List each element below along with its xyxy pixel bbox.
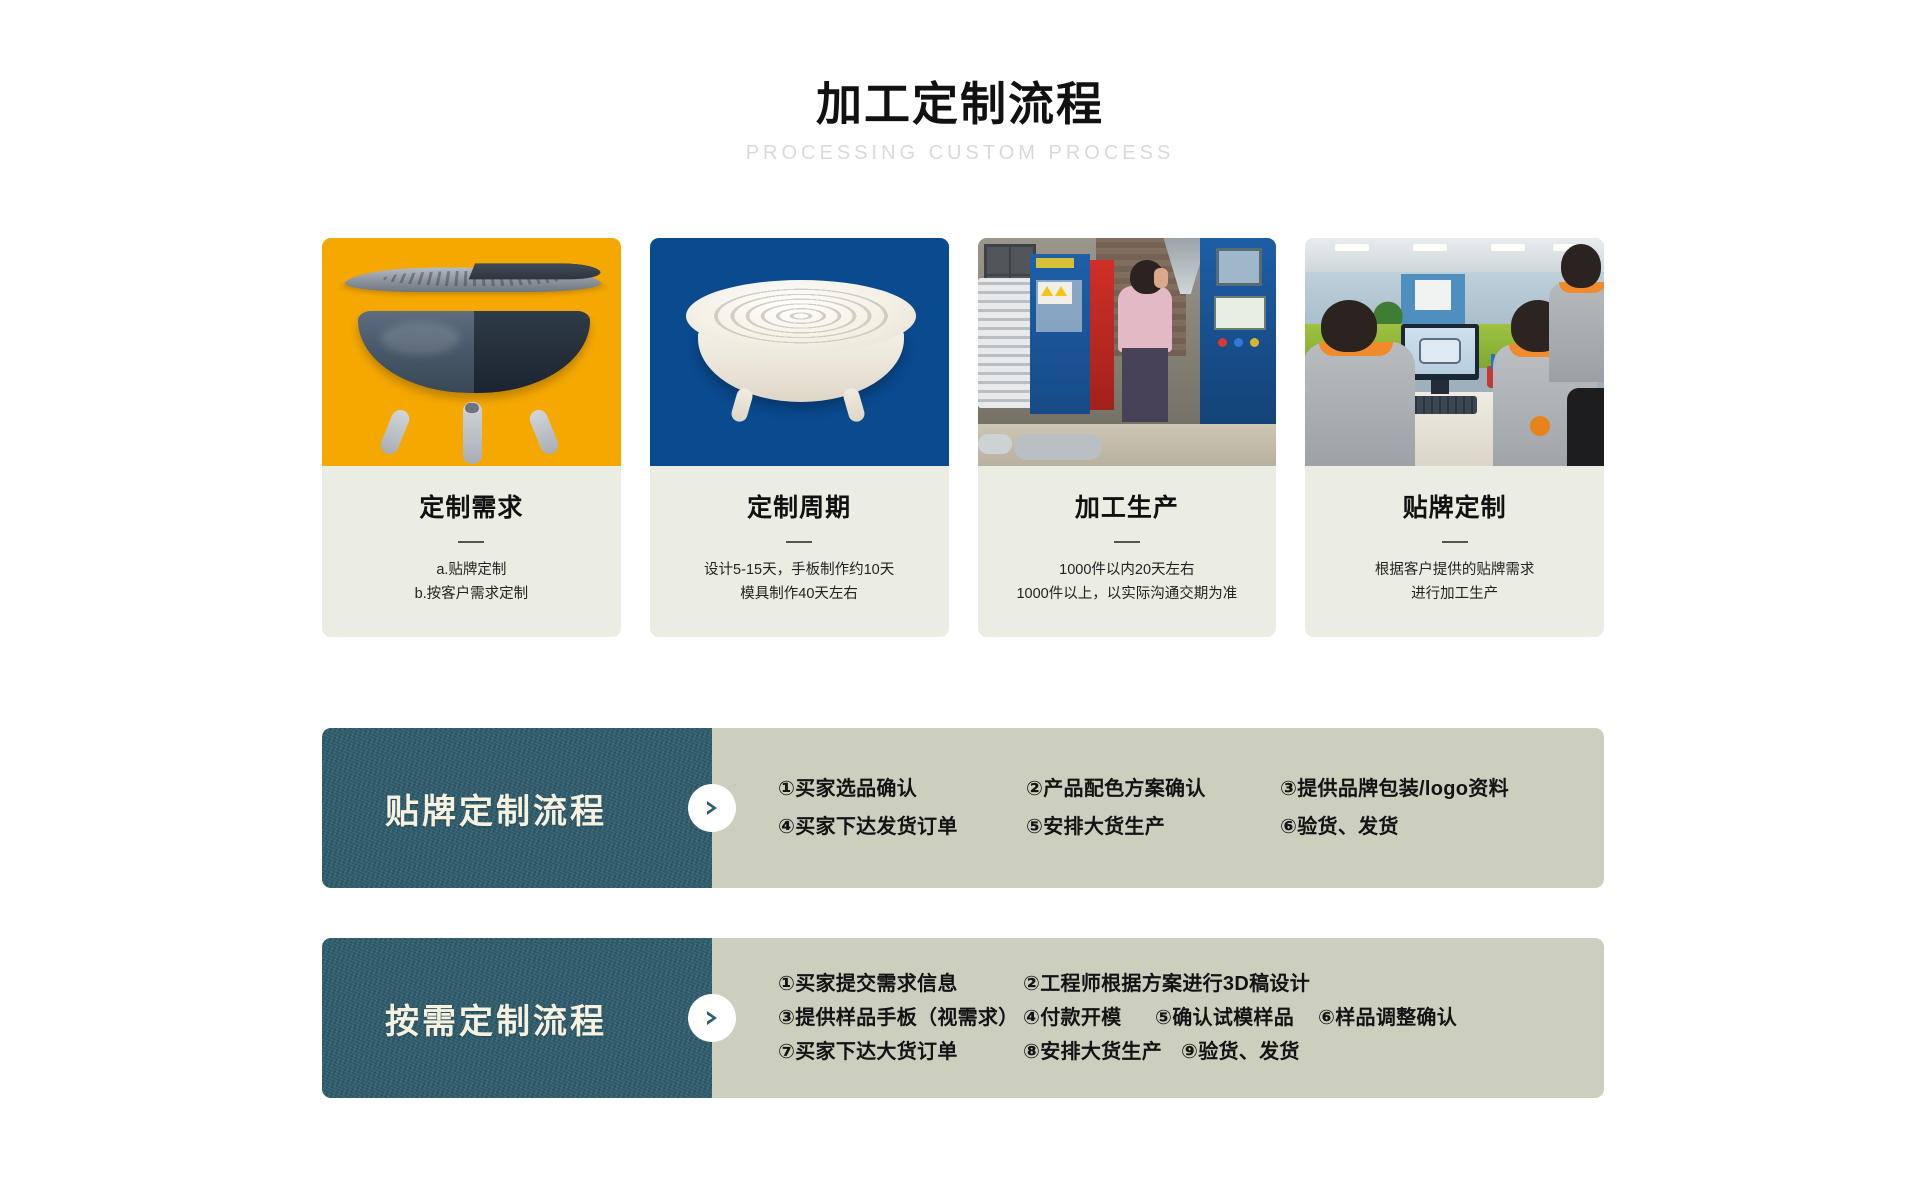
oem-step-4: ④买家下达发货订单 <box>778 817 1026 837</box>
process-card-4[interactable]: 贴牌定制 根据客户提供的贴牌需求 进行加工生产 <box>1305 238 1604 637</box>
card-3-desc-line-2: 1000件以上，以实际沟通交期为准 <box>988 583 1267 607</box>
oem-step-5: ⑤安排大货生产 <box>1026 817 1280 837</box>
oem-step-row-1: ①买家选品确认 ②产品配色方案确认 ③提供品牌包装/logo资料 <box>778 779 1604 799</box>
factory-blue-machine <box>1030 254 1090 414</box>
odm-step-2: ②工程师根据方案进行3D稿设计 <box>1023 974 1310 994</box>
factory-red-column <box>1090 260 1114 410</box>
page-subtitle: PROCESSING CUSTOM PROCESS <box>0 142 1920 165</box>
card-2-title: 定制周期 <box>660 488 939 524</box>
odm-process-banner: 按需定制流程 ①买家提交需求信息 ②工程师根据方案进行3D稿设计 ③提供样品手板… <box>322 938 1604 1098</box>
product-leg-left <box>378 407 412 456</box>
card-1-desc-line-1: a.贴牌定制 <box>332 559 611 583</box>
page-title: 加工定制流程 <box>0 78 1920 131</box>
factory-worker-face <box>1154 268 1168 288</box>
office-monitor-stand <box>1431 380 1449 394</box>
odm-step-1: ①买家提交需求信息 <box>778 974 1023 994</box>
card-4-image-office <box>1305 238 1604 466</box>
odm-step-row-3: ⑦买家下达大货订单 ⑧安排大货生产 ⑨验货、发货 <box>778 1042 1604 1062</box>
office-ceiling-light-2 <box>1413 244 1447 251</box>
odm-step-4: ④付款开模 <box>1023 1008 1155 1028</box>
card-1-title: 定制需求 <box>332 488 611 524</box>
product-lid-dark-shape <box>469 263 604 279</box>
oem-process-label: 贴牌定制流程 <box>385 784 649 833</box>
page-header: 加工定制流程 PROCESSING CUSTOM PROCESS <box>0 78 1920 165</box>
oem-process-banner: 贴牌定制流程 ①买家选品确认 ②产品配色方案确认 ③提供品牌包装/logo资料 … <box>322 728 1604 888</box>
product-bowl-shape <box>358 311 590 393</box>
factory-molded-part-2 <box>978 434 1012 454</box>
office-ceiling-light-3 <box>1491 244 1525 251</box>
card-3-image-factory <box>978 238 1277 466</box>
process-card-3[interactable]: 加工生产 1000件以内20天左右 1000件以上，以实际沟通交期为准 <box>978 238 1277 637</box>
card-1-image-exploded-product <box>322 238 621 466</box>
card-2-body: 定制周期 设计5-15天，手板制作约10天 模具制作40天左右 <box>650 466 949 637</box>
factory-molded-part <box>1014 434 1102 460</box>
dish-leg-right <box>841 386 866 423</box>
process-cards: 定制需求 a.贴牌定制 b.按客户需求定制 定制周期 设计5-15 <box>322 238 1604 637</box>
odm-step-row-1: ①买家提交需求信息 ②工程师根据方案进行3D稿设计 <box>778 974 1604 994</box>
odm-process-label: 按需定制流程 <box>385 994 649 1043</box>
factory-button-yellow <box>1250 338 1259 347</box>
card-1-desc-line-2: b.按客户需求定制 <box>332 583 611 607</box>
factory-control-screen <box>1216 248 1262 286</box>
odm-process-steps: ①买家提交需求信息 ②工程师根据方案进行3D稿设计 ③提供样品手板（视需求） ④… <box>712 938 1604 1098</box>
card-1-divider <box>458 541 484 543</box>
process-page: 加工定制流程 PROCESSING CUSTOM PROCESS 定制需求 a.… <box>0 0 1920 1200</box>
factory-warning-sign <box>1038 282 1072 304</box>
card-4-desc-line-1: 根据客户提供的贴牌需求 <box>1315 559 1594 583</box>
card-2-desc-line-1: 设计5-15天，手板制作约10天 <box>660 559 939 583</box>
factory-worker-torso <box>1118 286 1172 352</box>
card-3-desc-line-1: 1000件以内20天左右 <box>988 559 1267 583</box>
oem-step-2: ②产品配色方案确认 <box>1026 779 1280 799</box>
odm-step-8: ⑧安排大货生产 <box>1023 1042 1181 1062</box>
oem-process-steps: ①买家选品确认 ②产品配色方案确认 ③提供品牌包装/logo资料 ④买家下达发货… <box>712 728 1604 888</box>
card-2-image-white-dish <box>650 238 949 466</box>
card-4-divider <box>1442 541 1468 543</box>
product-leg-right <box>527 407 561 456</box>
chevron-right-icon <box>688 994 736 1042</box>
odm-step-5: ⑤确认试模样品 <box>1155 1008 1318 1028</box>
office-person-1-body <box>1305 342 1415 466</box>
card-1-body: 定制需求 a.贴牌定制 b.按客户需求定制 <box>322 466 621 637</box>
office-person-3-body <box>1549 282 1604 382</box>
odm-process-label-block: 按需定制流程 <box>322 938 712 1098</box>
odm-step-6: ⑥样品调整确认 <box>1318 1008 1457 1028</box>
office-person-1-head <box>1321 300 1377 352</box>
process-card-2[interactable]: 定制周期 设计5-15天，手板制作约10天 模具制作40天左右 <box>650 238 949 637</box>
card-4-title: 贴牌定制 <box>1315 488 1594 524</box>
process-card-1[interactable]: 定制需求 a.贴牌定制 b.按客户需求定制 <box>322 238 621 637</box>
factory-worker-legs <box>1122 348 1168 422</box>
chevron-right-icon <box>688 784 736 832</box>
factory-button-red <box>1218 338 1227 347</box>
oem-process-label-block: 贴牌定制流程 <box>322 728 712 888</box>
factory-machine-label <box>1036 258 1074 268</box>
odm-step-3: ③提供样品手板（视需求） <box>778 1008 1023 1028</box>
card-2-desc-line-2: 模具制作40天左右 <box>660 583 939 607</box>
odm-step-7: ⑦买家下达大货订单 <box>778 1042 1023 1062</box>
factory-control-panel <box>1214 296 1266 330</box>
office-chair <box>1567 388 1604 466</box>
office-wall-board <box>1415 280 1451 310</box>
dish-illustration <box>650 238 949 466</box>
card-2-divider <box>786 541 812 543</box>
oem-step-row-2: ④买家下达发货订单 ⑤安排大货生产 ⑥验货、发货 <box>778 817 1604 837</box>
oem-step-1: ①买家选品确认 <box>778 779 1026 799</box>
card-3-body: 加工生产 1000件以内20天左右 1000件以上，以实际沟通交期为准 <box>978 466 1277 637</box>
odm-step-9: ⑨验货、发货 <box>1181 1042 1300 1062</box>
oem-step-6: ⑥验货、发货 <box>1280 817 1399 837</box>
card-3-title: 加工生产 <box>988 488 1267 524</box>
odm-step-row-2: ③提供样品手板（视需求） ④付款开模 ⑤确认试模样品 ⑥样品调整确认 <box>778 1008 1604 1028</box>
dish-leg-left <box>729 386 754 423</box>
product-leg-center <box>463 402 482 464</box>
office-person-3-head <box>1561 244 1601 288</box>
card-4-body: 贴牌定制 根据客户提供的贴牌需求 进行加工生产 <box>1305 466 1604 637</box>
office-ceiling-light-1 <box>1335 244 1369 251</box>
office-cad-drawing <box>1419 338 1461 364</box>
card-3-divider <box>1114 541 1140 543</box>
card-4-desc-line-2: 进行加工生产 <box>1315 583 1594 607</box>
oem-step-3: ③提供品牌包装/logo资料 <box>1280 779 1509 799</box>
factory-button-blue <box>1234 338 1243 347</box>
dish-rings-shape <box>712 288 890 344</box>
office-watermark-logo-icon <box>1530 416 1550 436</box>
